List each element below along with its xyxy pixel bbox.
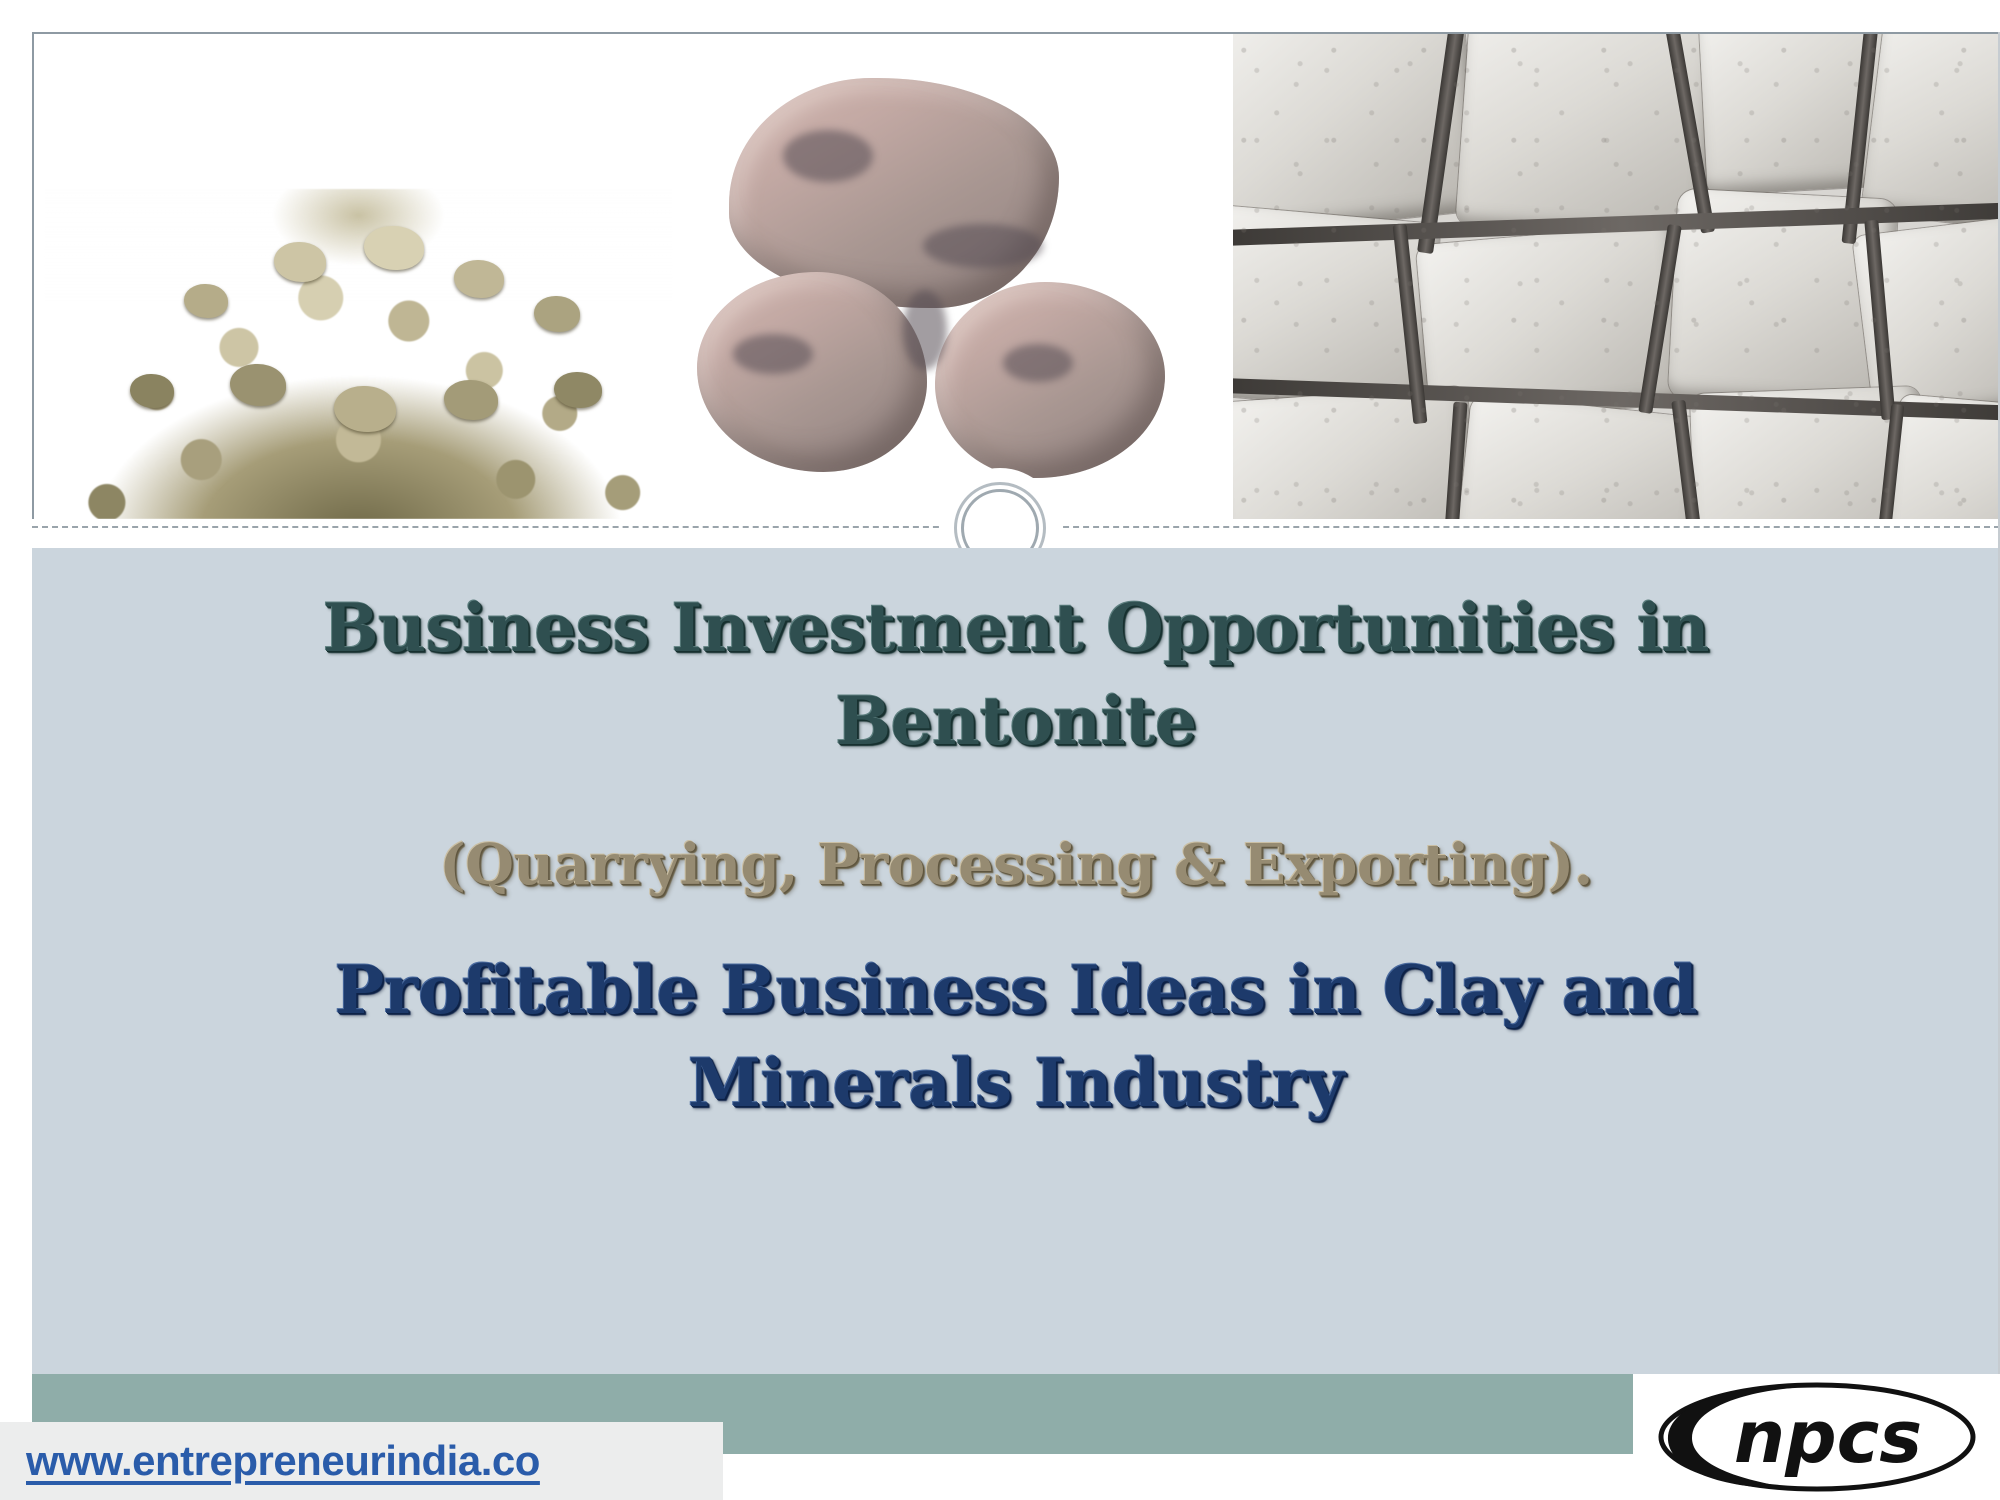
granule-speck — [334, 386, 396, 432]
granule-speck — [364, 226, 424, 270]
title-panel-content: Business Investment Opportunities in Ben… — [32, 548, 2000, 1374]
rock-lump-top — [729, 78, 1059, 308]
slide-lower-title-line-2: Minerals Industry — [92, 1029, 1940, 1122]
granule-speck — [444, 380, 498, 420]
bentonite-rocks-photo — [673, 34, 1232, 519]
clay-grain-texture — [1233, 34, 2000, 519]
slide-title-line-1: Business Investment Opportunities in — [92, 548, 1940, 667]
npcs-logo-icon: npcs — [1652, 1378, 1982, 1496]
granule-speck — [130, 374, 174, 408]
rock-lump-left — [697, 272, 927, 472]
rock-shadow-patch — [923, 224, 1043, 268]
granule-heap — [44, 189, 673, 519]
granule-speck — [534, 296, 580, 332]
slide-title-line-2: Bentonite — [92, 667, 1940, 760]
granule-speck — [274, 242, 326, 282]
slide-subtitle: (Quarrying, Processing & Exporting). — [92, 759, 1940, 898]
slide-lower-title-line-1: Profitable Business Ideas in Clay and — [92, 898, 1940, 1029]
title-panel: Business Investment Opportunities in Ben… — [32, 548, 2000, 1374]
granule-speck — [554, 372, 602, 408]
photo-strip — [32, 32, 2000, 519]
website-url-link[interactable]: www.entrepreneurindia.co — [26, 1437, 540, 1485]
npcs-logo: npcs — [1634, 1374, 2000, 1500]
presentation-slide: Business Investment Opportunities in Ben… — [0, 0, 2000, 1500]
npcs-logo-text: npcs — [1734, 1395, 1922, 1479]
rock-shadow-patch — [1003, 344, 1073, 382]
granule-speck — [454, 260, 504, 298]
rock-shadow-patch — [783, 130, 873, 182]
clay-surface — [1233, 34, 2000, 519]
cracked-clay-photo — [1233, 34, 2000, 519]
granule-speck — [184, 284, 228, 318]
granule-speck — [230, 364, 286, 406]
bentonite-granules-photo — [34, 34, 673, 519]
rock-shadow-patch — [733, 334, 813, 374]
website-url-band: www.entrepreneurindia.co — [0, 1422, 723, 1500]
